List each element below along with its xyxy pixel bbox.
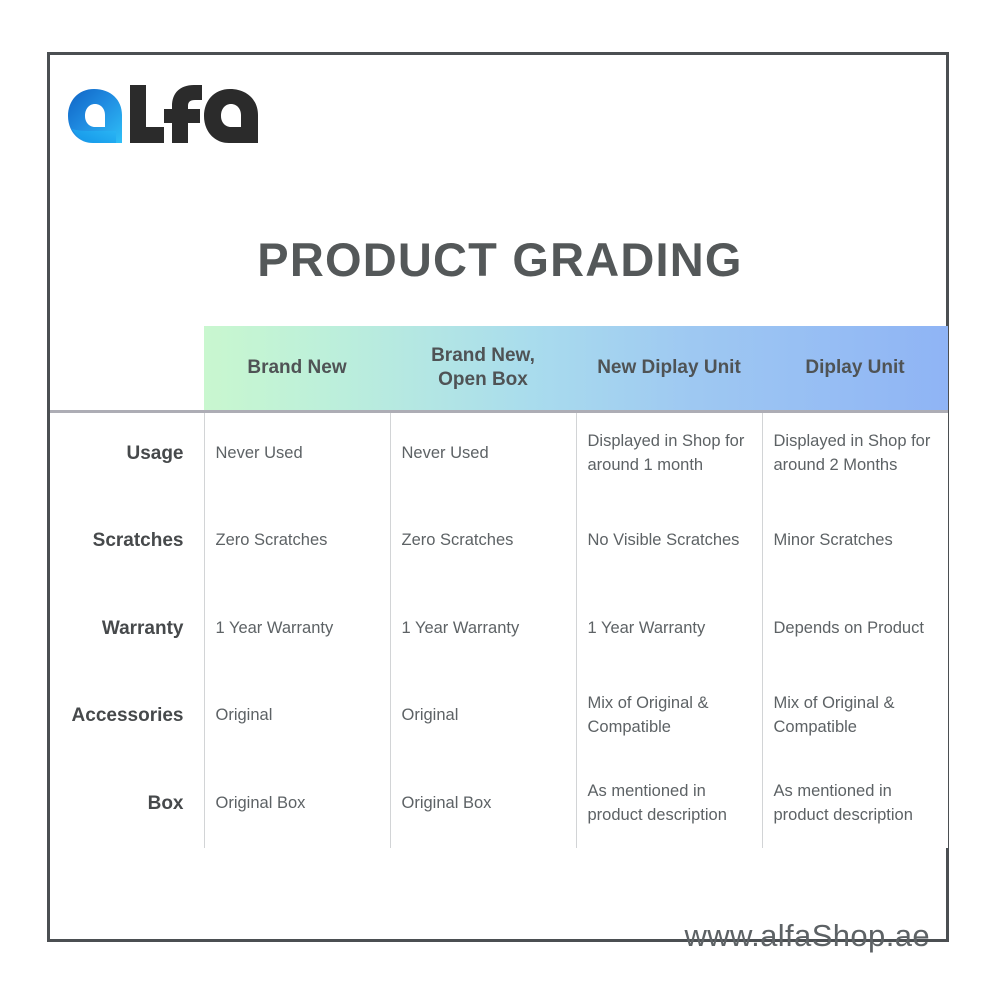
row-label-box: Box xyxy=(50,760,204,848)
cell-box-brand-new: Original Box xyxy=(204,760,390,848)
column-header-display-unit: Diplay Unit xyxy=(762,326,948,410)
table-row: Warranty 1 Year Warranty 1 Year Warranty… xyxy=(50,585,948,673)
website-url[interactable]: www.alfaShop.ae xyxy=(684,918,930,954)
row-label-scratches: Scratches xyxy=(50,498,204,586)
table-body: Usage Never Used Never Used Displayed in… xyxy=(50,410,948,848)
page-title: PRODUCT GRADING xyxy=(0,232,1000,287)
alfa-logo xyxy=(66,82,266,154)
table-corner-cell xyxy=(50,326,204,410)
table-header: Brand New Brand New, Open Box New Diplay… xyxy=(50,326,948,410)
row-label-usage: Usage xyxy=(50,410,204,498)
product-grading-table: Brand New Brand New, Open Box New Diplay… xyxy=(50,326,948,848)
grading-table-container: Brand New Brand New, Open Box New Diplay… xyxy=(50,326,948,844)
cell-scratches-new-display: No Visible Scratches xyxy=(576,498,762,586)
table-row: Scratches Zero Scratches Zero Scratches … xyxy=(50,498,948,586)
cell-usage-open-box: Never Used xyxy=(390,410,576,498)
cell-accessories-new-display: Mix of Original & Compatible xyxy=(576,673,762,761)
column-header-brand-new-open-box: Brand New, Open Box xyxy=(390,326,576,410)
cell-accessories-display: Mix of Original & Compatible xyxy=(762,673,948,761)
cell-box-new-display: As mentioned in product description xyxy=(576,760,762,848)
cell-scratches-display: Minor Scratches xyxy=(762,498,948,586)
table-row: Accessories Original Original Mix of Ori… xyxy=(50,673,948,761)
cell-box-open-box: Original Box xyxy=(390,760,576,848)
table-header-row: Brand New Brand New, Open Box New Diplay… xyxy=(50,326,948,410)
table-row: Box Original Box Original Box As mention… xyxy=(50,760,948,848)
table-row: Usage Never Used Never Used Displayed in… xyxy=(50,410,948,498)
cell-warranty-brand-new: 1 Year Warranty xyxy=(204,585,390,673)
row-label-warranty: Warranty xyxy=(50,585,204,673)
cell-scratches-brand-new: Zero Scratches xyxy=(204,498,390,586)
cell-warranty-new-display: 1 Year Warranty xyxy=(576,585,762,673)
cell-scratches-open-box: Zero Scratches xyxy=(390,498,576,586)
cell-usage-new-display: Displayed in Shop for around 1 month xyxy=(576,410,762,498)
cell-warranty-display: Depends on Product xyxy=(762,585,948,673)
cell-box-display: As mentioned in product description xyxy=(762,760,948,848)
cell-accessories-open-box: Original xyxy=(390,673,576,761)
alfa-logo-icon xyxy=(66,83,262,153)
cell-accessories-brand-new: Original xyxy=(204,673,390,761)
column-header-new-display-unit: New Diplay Unit xyxy=(576,326,762,410)
cell-usage-display: Displayed in Shop for around 2 Months xyxy=(762,410,948,498)
column-header-brand-new: Brand New xyxy=(204,326,390,410)
product-grading-infographic: PRODUCT GRADING Brand New Brand New, Ope… xyxy=(0,0,1000,1000)
row-label-accessories: Accessories xyxy=(50,673,204,761)
cell-usage-brand-new: Never Used xyxy=(204,410,390,498)
cell-warranty-open-box: 1 Year Warranty xyxy=(390,585,576,673)
table-header-rule xyxy=(50,410,948,413)
